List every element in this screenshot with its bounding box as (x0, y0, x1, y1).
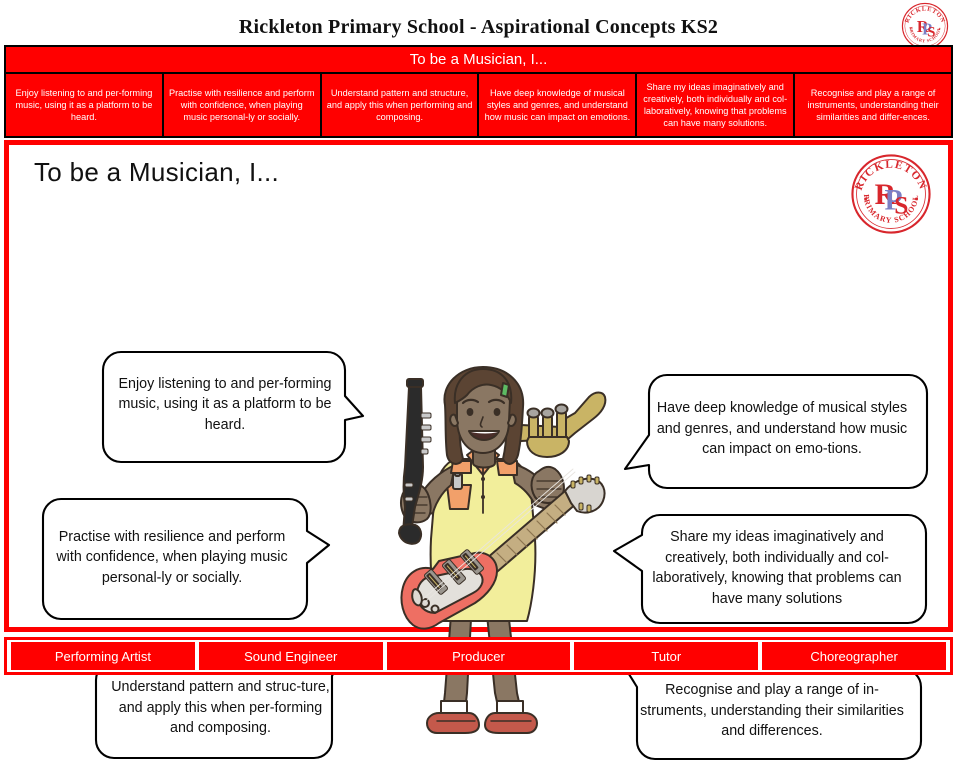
career-tag-1[interactable]: Sound Engineer (199, 642, 383, 670)
poster-page: Rickleton Primary School - Aspirational … (0, 0, 957, 679)
svg-text:S: S (894, 192, 908, 220)
career-tag-0[interactable]: Performing Artist (11, 642, 195, 670)
header-cell-3: Have deep knowledge of musical styles an… (479, 74, 637, 136)
panel-title: To be a Musician, I... (34, 157, 279, 188)
speech-bubble-share-ideas: Share my ideas imaginatively and creativ… (616, 513, 928, 625)
speech-bubble-practise-resilience: Practise with resilience and perform wit… (41, 497, 313, 622)
header-cell-row: Enjoy listening to and per-forming music… (6, 74, 951, 136)
speech-bubble-enjoy-listening: Enjoy listening to and per-forming music… (101, 350, 349, 465)
school-crest-icon-main: RICKLETON PRIMARY SCHOOL R P S (850, 153, 932, 235)
speech-bubble-deep-knowledge: Have deep knowledge of musical styles an… (627, 373, 929, 491)
speech-bubble-text: Practise with resilience and perform wit… (41, 497, 313, 622)
page-title: Rickleton Primary School - Aspirational … (0, 16, 957, 39)
girl-musician-illustration (379, 363, 609, 743)
speech-bubble-text: Have deep knowledge of musical styles an… (627, 373, 929, 491)
career-tag-2[interactable]: Producer (387, 642, 571, 670)
speech-bubble-text: Enjoy listening to and per-forming music… (101, 350, 349, 465)
careers-bar: Performing Artist Sound Engineer Produce… (4, 637, 953, 675)
speech-bubble-text: Share my ideas imaginatively and creativ… (616, 513, 928, 625)
header-cell-1: Practise with resilience and perform wit… (164, 74, 322, 136)
svg-text:S: S (927, 25, 935, 41)
header-cell-2: Understand pattern and structure, and ap… (322, 74, 480, 136)
concepts-header-table: To be a Musician, I... Enjoy listening t… (4, 45, 953, 138)
school-crest-icon-top: RICKLETON PRIMARY SCHOOL R P S (901, 2, 949, 50)
career-tag-3[interactable]: Tutor (574, 642, 758, 670)
main-content-panel: To be a Musician, I... RICKLETON PRIMARY… (4, 140, 953, 632)
header-cell-0: Enjoy listening to and per-forming music… (6, 74, 164, 136)
header-band-label: To be a Musician, I... (6, 47, 951, 74)
career-tag-4[interactable]: Choreographer (762, 642, 946, 670)
header-cell-4: Share my ideas imaginatively and creativ… (637, 74, 795, 136)
header-cell-5: Recognise and play a range of instrument… (795, 74, 951, 136)
